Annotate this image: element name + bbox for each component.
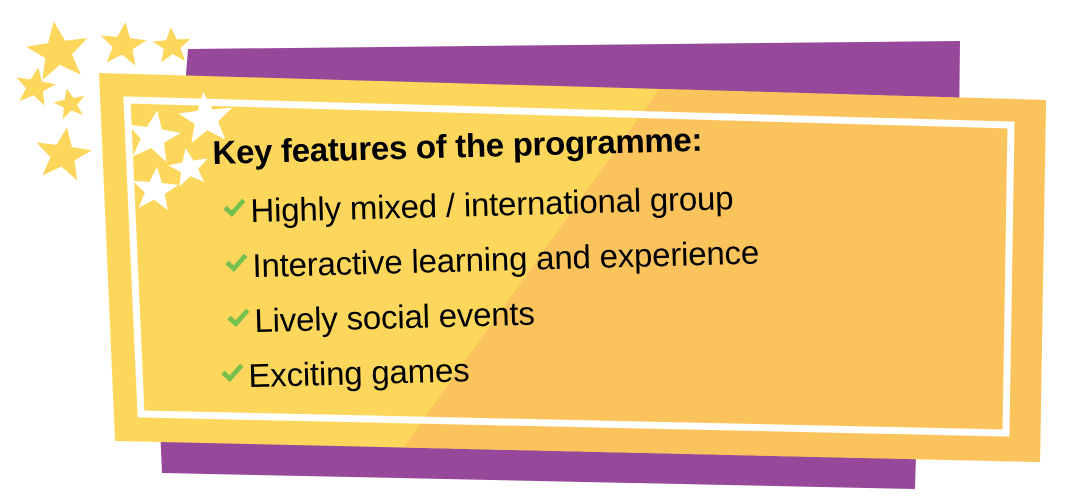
banner-artwork — [0, 0, 1065, 499]
banner-graphic: Key features of the programme: Highly mi… — [0, 0, 1065, 499]
